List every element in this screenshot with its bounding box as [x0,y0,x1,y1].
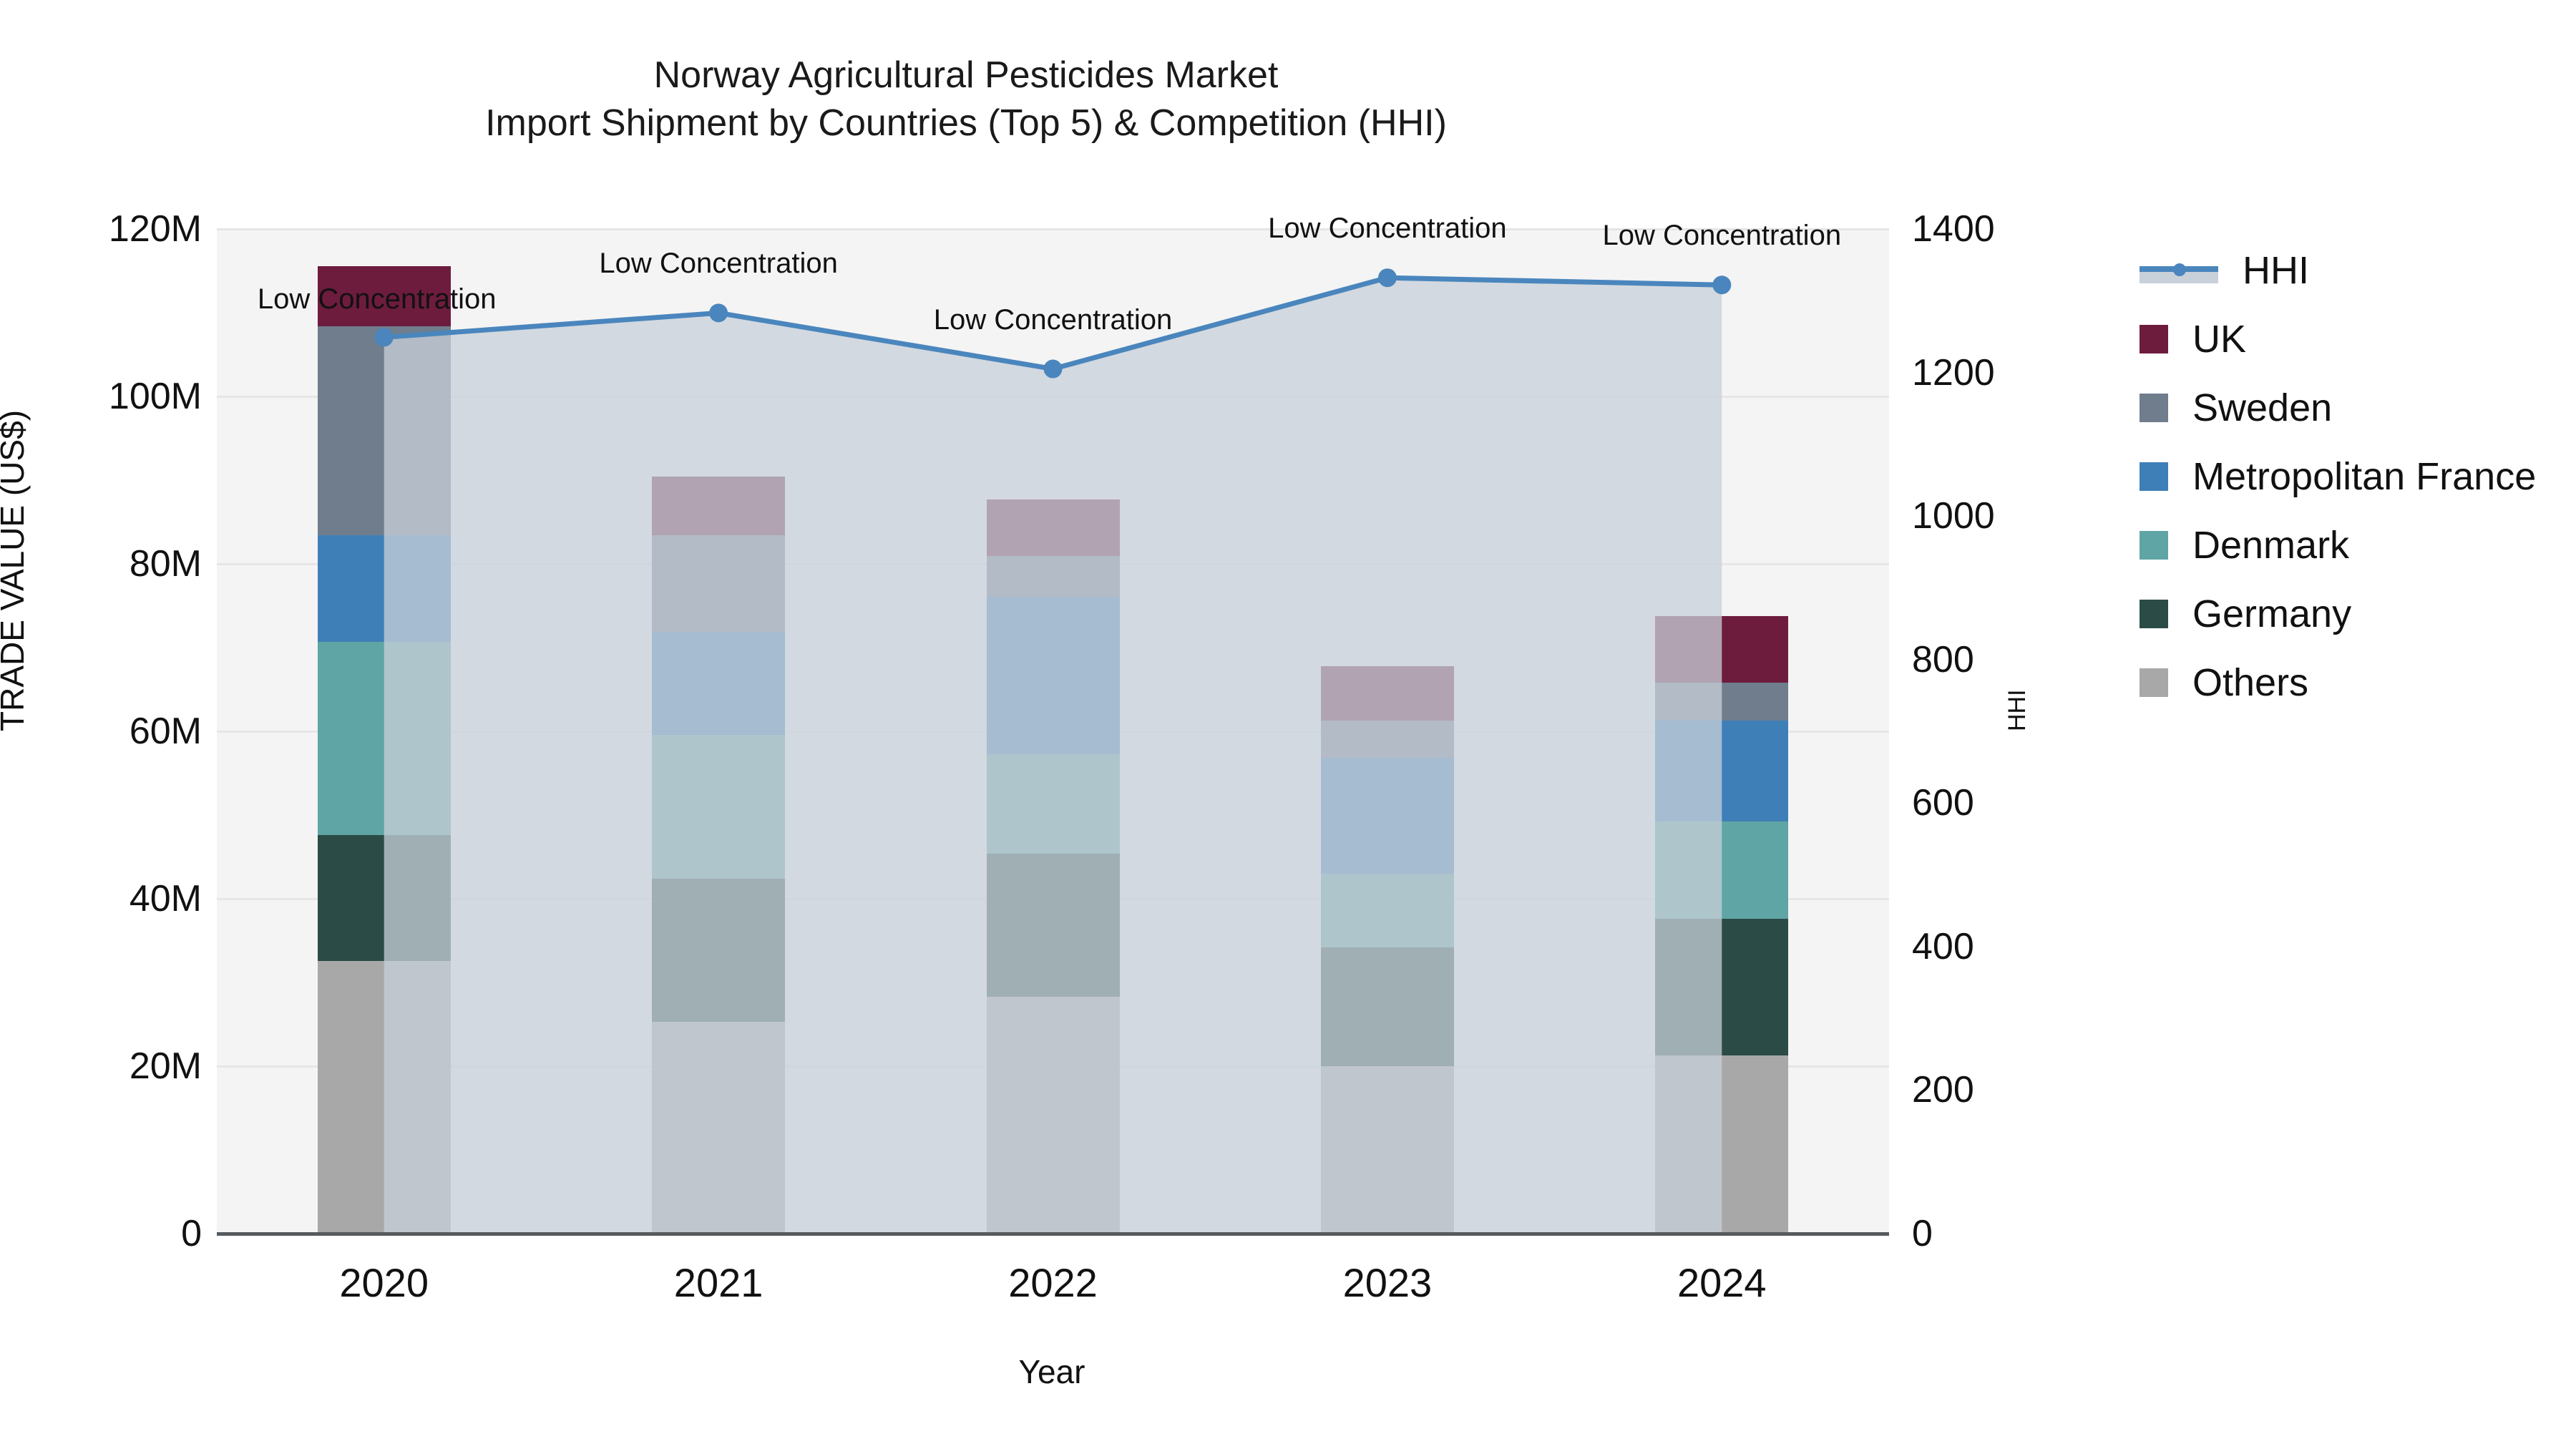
y-tick-right: 200 [1912,1068,2084,1111]
bar-segment[interactable] [318,961,451,1234]
bar-segment[interactable] [652,632,785,735]
y-tick-right: 0 [1912,1212,2084,1255]
bar-segment[interactable] [652,879,785,1022]
legend: HHIUKSwedenMetropolitan FranceDenmarkGer… [2140,236,2569,717]
bar-segment[interactable] [1321,1066,1454,1234]
bar-segment[interactable] [652,1022,785,1234]
y-tick-left: 120M [16,208,202,250]
bar-segment[interactable] [1321,874,1454,947]
gridline [217,396,1889,398]
legend-line-marker-icon [2140,256,2218,285]
y-tick-left: 40M [16,877,202,920]
bar-segment[interactable] [987,997,1120,1234]
bar-segment[interactable] [1655,821,1788,919]
x-tick: 2022 [910,1259,1196,1306]
y-axis-label-right: HHI [2004,689,2031,731]
annotation-low-concentration: Low Concentration [258,283,497,316]
bar-segment[interactable] [1321,947,1454,1066]
y-tick-left: 100M [16,375,202,418]
annotation-low-concentration: Low Concentration [1268,213,1507,245]
y-tick-right: 1400 [1912,208,2084,250]
bar-segment[interactable] [987,597,1120,754]
legend-swatch-icon [2140,600,2168,628]
bar-segment[interactable] [652,477,785,535]
x-axis-label: Year [0,1352,2104,1391]
bar-segment[interactable] [1655,1055,1788,1234]
hhi-marker[interactable] [1044,360,1063,379]
bar-stack[interactable] [318,265,451,1234]
y-tick-right: 400 [1912,925,2084,968]
bar-segment[interactable] [1321,721,1454,758]
x-tick: 2021 [575,1259,862,1306]
legend-label: HHI [2243,248,2309,293]
bar-segment[interactable] [652,735,785,879]
y-tick-left: 80M [16,542,202,585]
bar-segment[interactable] [1655,683,1788,721]
bar-segment[interactable] [1655,721,1788,822]
hhi-marker[interactable] [1712,275,1731,294]
legend-item[interactable]: UK [2140,305,2569,374]
legend-swatch-icon [2140,394,2168,422]
legend-item[interactable]: HHI [2140,236,2569,305]
y-tick-right: 800 [1912,638,2084,681]
annotation-low-concentration: Low Concentration [934,304,1173,336]
bar-stack[interactable] [1321,666,1454,1234]
bar-segment[interactable] [318,835,451,961]
x-tick: 2023 [1244,1259,1531,1306]
bar-segment[interactable] [1655,616,1788,683]
bar-segment[interactable] [1321,666,1454,721]
bar-segment[interactable] [318,642,451,835]
legend-item[interactable]: Metropolitan France [2140,442,2569,511]
bar-stack[interactable] [652,477,785,1234]
legend-label: UK [2192,317,2246,361]
legend-label: Denmark [2192,523,2349,567]
bar-segment[interactable] [987,754,1120,854]
y-tick-left: 0 [16,1212,202,1255]
hhi-marker[interactable] [1378,268,1397,287]
y-tick-left: 60M [16,710,202,753]
bar-segment[interactable] [318,535,451,642]
bar-stack[interactable] [1655,616,1788,1234]
bar-segment[interactable] [318,326,451,536]
legend-label: Metropolitan France [2192,454,2536,499]
annotation-low-concentration: Low Concentration [1603,220,1842,252]
bar-segment[interactable] [987,854,1120,997]
legend-label: Sweden [2192,386,2332,430]
legend-swatch-icon [2140,462,2168,491]
hhi-marker[interactable] [709,303,728,322]
x-axis-line [217,1232,1889,1236]
y-tick-right: 600 [1912,781,2084,824]
bar-segment[interactable] [987,499,1120,557]
bar-segment[interactable] [652,535,785,632]
legend-item[interactable]: Others [2140,648,2569,717]
chart-subtitle: Import Shipment by Countries (Top 5) & C… [0,99,1932,147]
plot-area: Low ConcentrationLow ConcentrationLow Co… [217,229,1889,1234]
bar-segment[interactable] [1321,758,1454,873]
legend-label: Others [2192,660,2308,705]
x-tick: 2020 [241,1259,527,1306]
legend-swatch-icon [2140,668,2168,697]
x-tick: 2024 [1579,1259,1865,1306]
chart-title-block: Norway Agricultural Pesticides Market Im… [0,52,1932,147]
legend-item[interactable]: Germany [2140,580,2569,648]
legend-swatch-icon [2140,325,2168,353]
y-tick-right: 1000 [1912,494,2084,537]
annotation-low-concentration: Low Concentration [599,248,838,280]
chart-canvas: Norway Agricultural Pesticides Market Im… [0,0,2576,1449]
y-tick-left: 20M [16,1045,202,1088]
legend-label: Germany [2192,592,2351,636]
legend-swatch-icon [2140,531,2168,560]
bar-segment[interactable] [987,556,1120,596]
legend-item[interactable]: Sweden [2140,374,2569,442]
bar-segment[interactable] [1655,919,1788,1055]
chart-title: Norway Agricultural Pesticides Market [0,52,1932,99]
bar-stack[interactable] [987,499,1120,1234]
y-tick-right: 1200 [1912,351,2084,394]
legend-item[interactable]: Denmark [2140,511,2569,580]
